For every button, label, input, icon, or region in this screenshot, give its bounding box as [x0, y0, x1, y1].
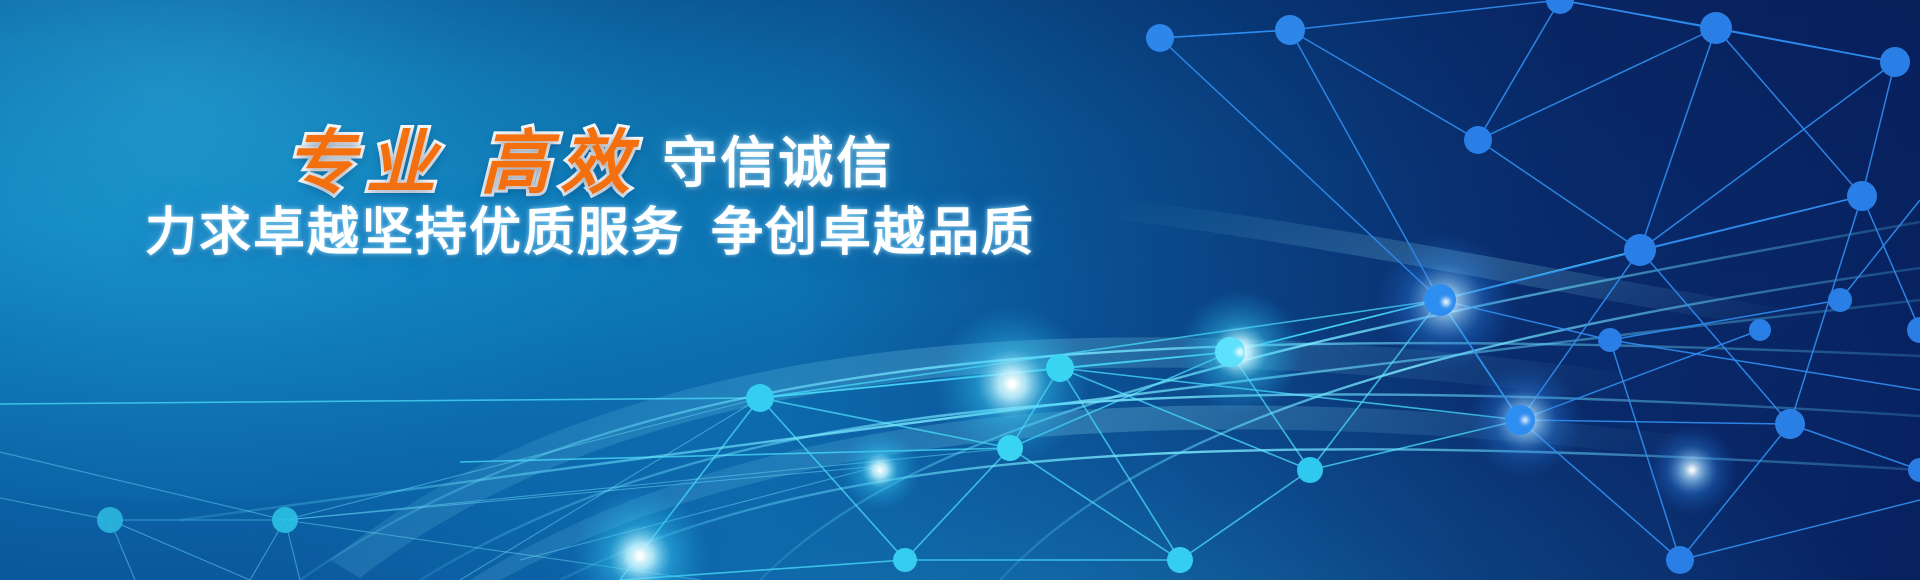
hero-banner: 专业 高效 守信诚信 力求卓越坚持优质服务争创卓越品质 [0, 0, 1920, 580]
network-graphic [0, 0, 1920, 580]
